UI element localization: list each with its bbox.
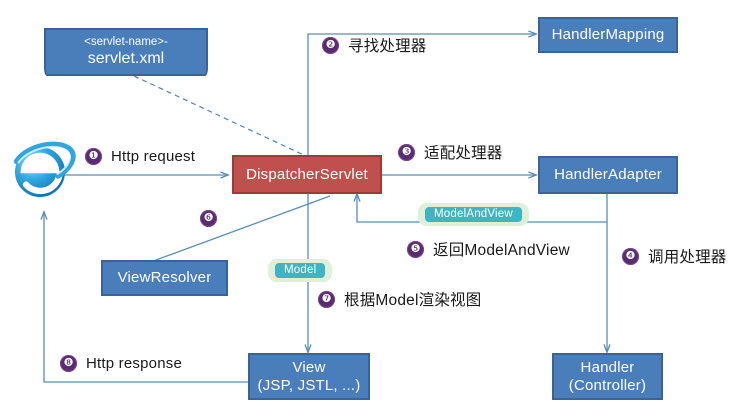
step-5-label: 返回ModelAndView <box>433 238 570 260</box>
step-8-badge: ❽ <box>60 355 77 372</box>
step-2-badge: ❷ <box>322 37 339 54</box>
node-handler-mapping[interactable]: HandlerMapping <box>538 17 678 53</box>
node-handler[interactable]: Handler (Controller) <box>552 353 663 400</box>
step-8-http-response: ❽ Http response <box>60 355 182 372</box>
pill-model-and-view-label: ModelAndView <box>425 207 522 222</box>
view-label-line2: (JSP, JSTL, ...) <box>258 377 361 395</box>
step-4-label: 调用处理器 <box>648 245 727 267</box>
step-6-badge: ❻ <box>200 210 217 227</box>
step-1-badge: ❶ <box>85 148 102 165</box>
diagram-canvas: <servlet-name>- servlet.xml HandlerMappi… <box>0 0 737 419</box>
step-4-invoke-handler: ❹ 调用处理器 <box>622 245 727 267</box>
handler-label-line1: Handler <box>581 359 635 377</box>
node-dispatcher-servlet[interactable]: DispatcherServlet <box>232 155 382 194</box>
step-5-return-model-and-view: ❺ 返回ModelAndView <box>407 238 570 260</box>
step-5-badge: ❺ <box>407 241 424 258</box>
wire-config-link <box>134 76 306 156</box>
pill-model: Model <box>268 259 332 282</box>
servlet-config-line2: servlet.xml <box>46 49 206 70</box>
servlet-config-doc: <servlet-name>- servlet.xml <box>44 28 208 76</box>
step-8-label: Http response <box>86 355 182 372</box>
pill-model-label: Model <box>275 263 325 278</box>
node-handler-adapter[interactable]: HandlerAdapter <box>538 156 678 194</box>
node-view-resolver[interactable]: ViewResolver <box>101 260 228 296</box>
step-2-find-handler: ❷ 寻找处理器 <box>322 34 427 56</box>
pill-model-and-view: ModelAndView <box>418 203 529 226</box>
step-3-label: 适配处理器 <box>424 141 503 163</box>
step-7-badge: ❼ <box>318 291 335 308</box>
step-1-http-request: ❶ Http request <box>85 148 195 165</box>
internet-explorer-logo <box>6 134 78 206</box>
step-1-label: Http request <box>111 148 195 165</box>
step-4-badge: ❹ <box>622 248 639 265</box>
step-6-resolve-view: ❻ <box>200 210 226 227</box>
step-3-badge: ❸ <box>398 144 415 161</box>
view-resolver-label: ViewResolver <box>118 269 212 287</box>
step-7-label: 根据Model渲染视图 <box>344 288 481 310</box>
step-2-label: 寻找处理器 <box>348 34 427 56</box>
node-view[interactable]: View (JSP, JSTL, ...) <box>248 353 370 400</box>
handler-adapter-label: HandlerAdapter <box>554 166 662 184</box>
handler-mapping-label: HandlerMapping <box>552 26 665 44</box>
view-label-line1: View <box>292 359 325 377</box>
step-7-render-view: ❼ 根据Model渲染视图 <box>318 288 481 310</box>
step-3-adapt-handler: ❸ 适配处理器 <box>398 141 503 163</box>
dispatcher-servlet-label: DispatcherServlet <box>246 166 368 184</box>
handler-label-line2: (Controller) <box>569 377 646 395</box>
servlet-config-line1: <servlet-name>- <box>46 35 206 49</box>
